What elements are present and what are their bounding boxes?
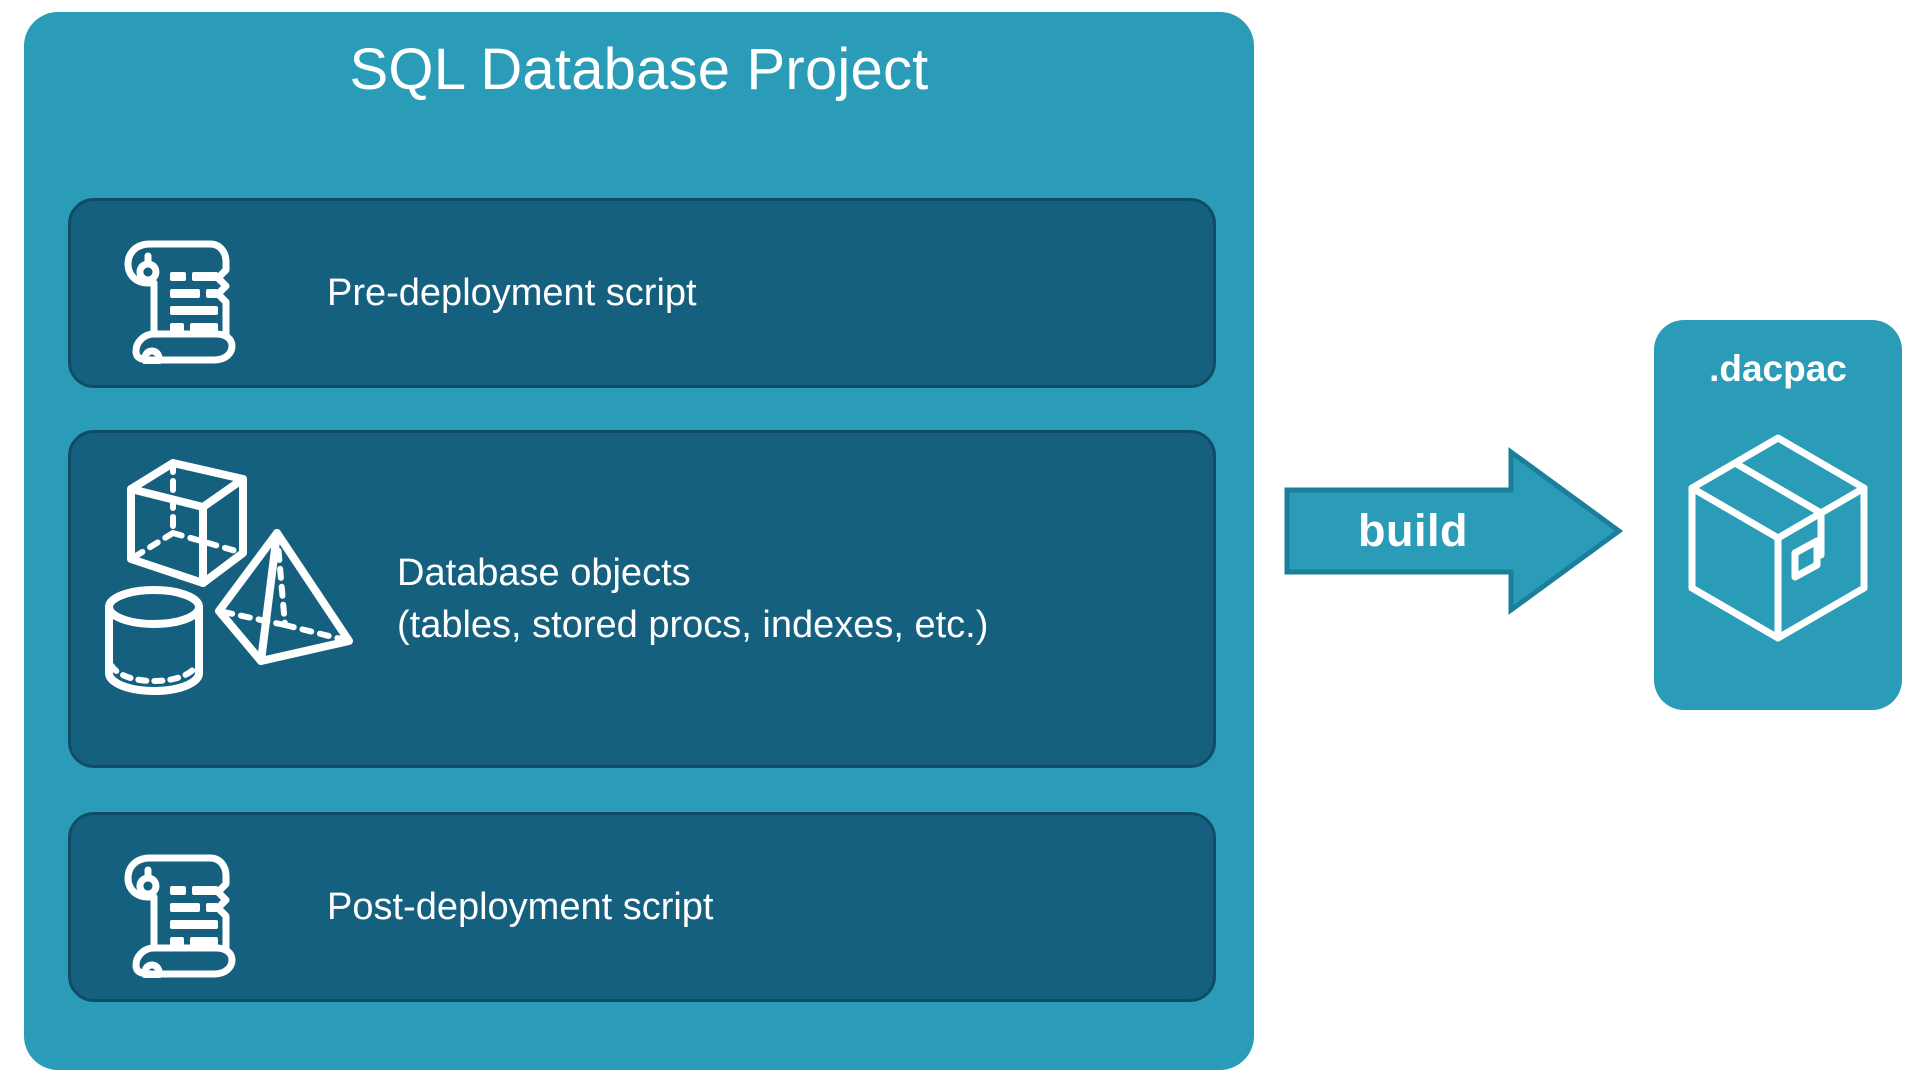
dacpac-label: .dacpac <box>1654 348 1902 390</box>
page-title: SQL Database Project <box>24 40 1254 101</box>
pyramid-icon <box>209 525 359 675</box>
cylinder-icon <box>99 581 209 701</box>
panel-post-deployment-label: Post-deployment script <box>327 881 714 933</box>
panel-pre-deployment-label: Pre-deployment script <box>327 267 697 319</box>
dacpac-output-card: .dacpac <box>1654 320 1902 710</box>
panel-database-objects[interactable]: Database objects (tables, stored procs, … <box>68 430 1216 768</box>
scroll-icon <box>114 836 246 978</box>
post-deployment-icon-group <box>85 836 275 978</box>
scroll-text-lines <box>170 272 218 332</box>
panel-pre-deployment[interactable]: Pre-deployment script <box>68 198 1216 388</box>
package-box-icon <box>1682 424 1874 674</box>
scroll-text-lines <box>170 886 218 946</box>
panel-post-deployment[interactable]: Post-deployment script <box>68 812 1216 1002</box>
scroll-icon <box>114 222 246 364</box>
diagram-canvas: SQL Database Project <box>0 0 1920 1080</box>
cylinder-hidden-edge <box>111 665 197 681</box>
panel-database-objects-label: Database objects (tables, stored procs, … <box>397 547 988 652</box>
sql-database-project-card: SQL Database Project <box>24 12 1254 1070</box>
pre-deployment-icon-group <box>85 222 275 364</box>
arrow-right-icon <box>1283 446 1623 616</box>
database-objects-icon-group <box>91 433 371 765</box>
